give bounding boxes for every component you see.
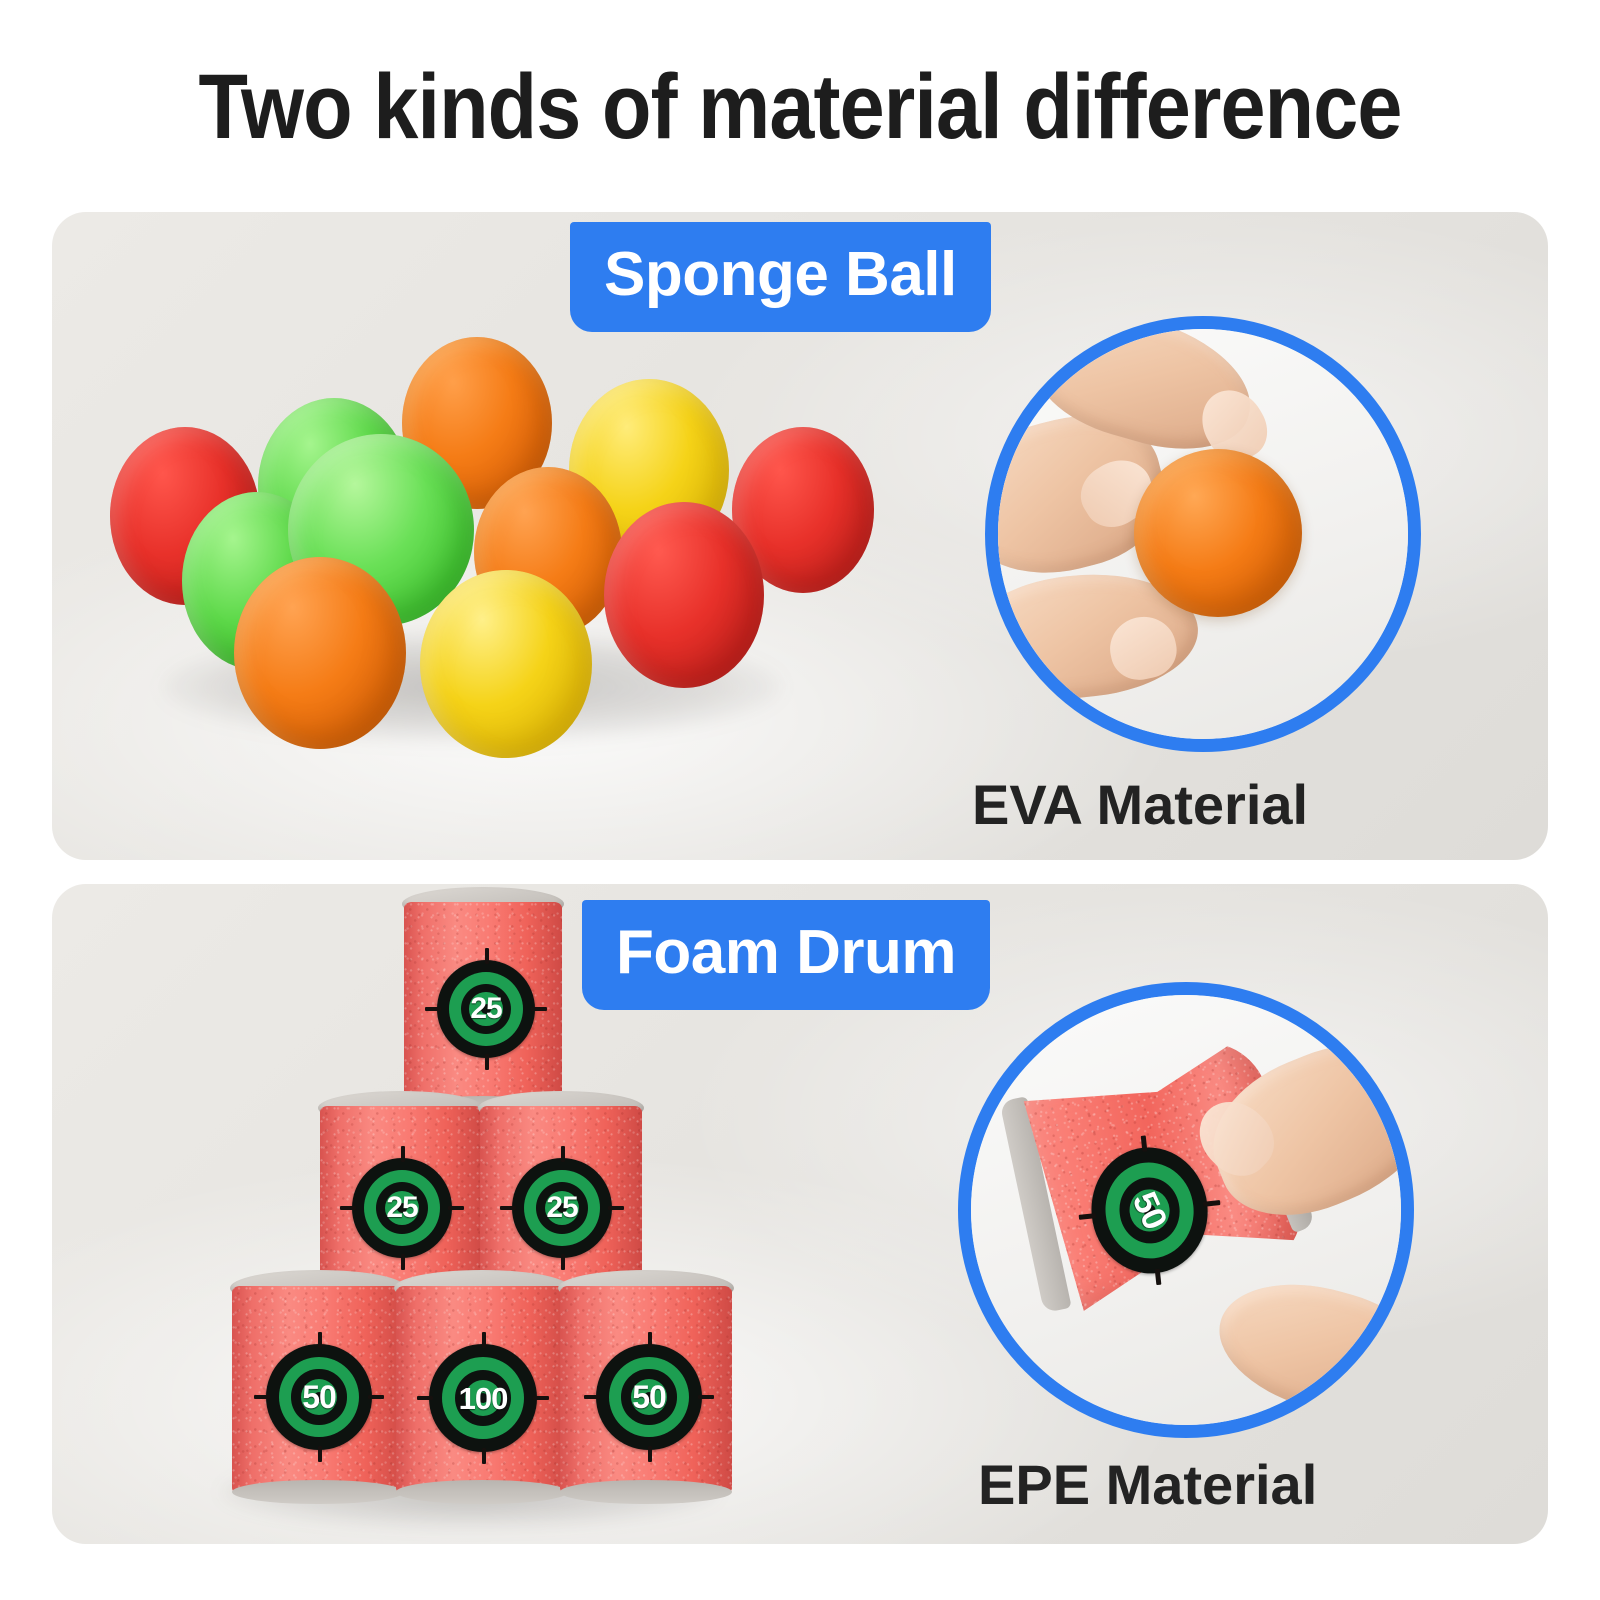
inset-photo-epe: 50: [971, 995, 1401, 1425]
caption-eva-material: EVA Material: [972, 772, 1308, 837]
inset-sponge-ball: [1134, 449, 1302, 617]
drum-score: 25: [470, 994, 501, 1024]
target-bullseye: 50: [266, 1344, 372, 1450]
inset-eva-material: [985, 316, 1421, 752]
drum-bottom-3: 50: [560, 1286, 732, 1494]
badge-sponge-ball: Sponge Ball: [570, 222, 991, 332]
drum-base: [560, 1480, 732, 1504]
drum-base: [396, 1480, 568, 1504]
inset-epe-material: 50: [958, 982, 1414, 1438]
drum-score: 100: [459, 1383, 508, 1414]
drum-bottom-1: 50: [232, 1286, 404, 1494]
target-bullseye: 25: [512, 1158, 612, 1258]
target-bullseye: 25: [437, 960, 535, 1058]
drum-bottom-2: 100: [396, 1286, 568, 1494]
drum-score: 25: [546, 1193, 577, 1223]
inset-photo-eva: [998, 329, 1408, 739]
drum-score: 50: [302, 1381, 336, 1413]
page-title: Two kinds of material difference: [96, 55, 1504, 160]
sponge-ball: [604, 502, 764, 688]
drum-top-1: 25: [404, 902, 562, 1108]
sponge-ball: [420, 570, 592, 758]
target-bullseye: 25: [352, 1158, 452, 1258]
target-bullseye: 50: [596, 1344, 702, 1450]
drum-score: 25: [386, 1193, 417, 1223]
badge-foam-drum: Foam Drum: [582, 900, 990, 1010]
drum-base: [232, 1480, 404, 1504]
drum-score: 50: [632, 1381, 666, 1413]
target-bullseye: 100: [429, 1344, 537, 1452]
caption-epe-material: EPE Material: [978, 1452, 1317, 1517]
sponge-ball: [234, 557, 406, 749]
